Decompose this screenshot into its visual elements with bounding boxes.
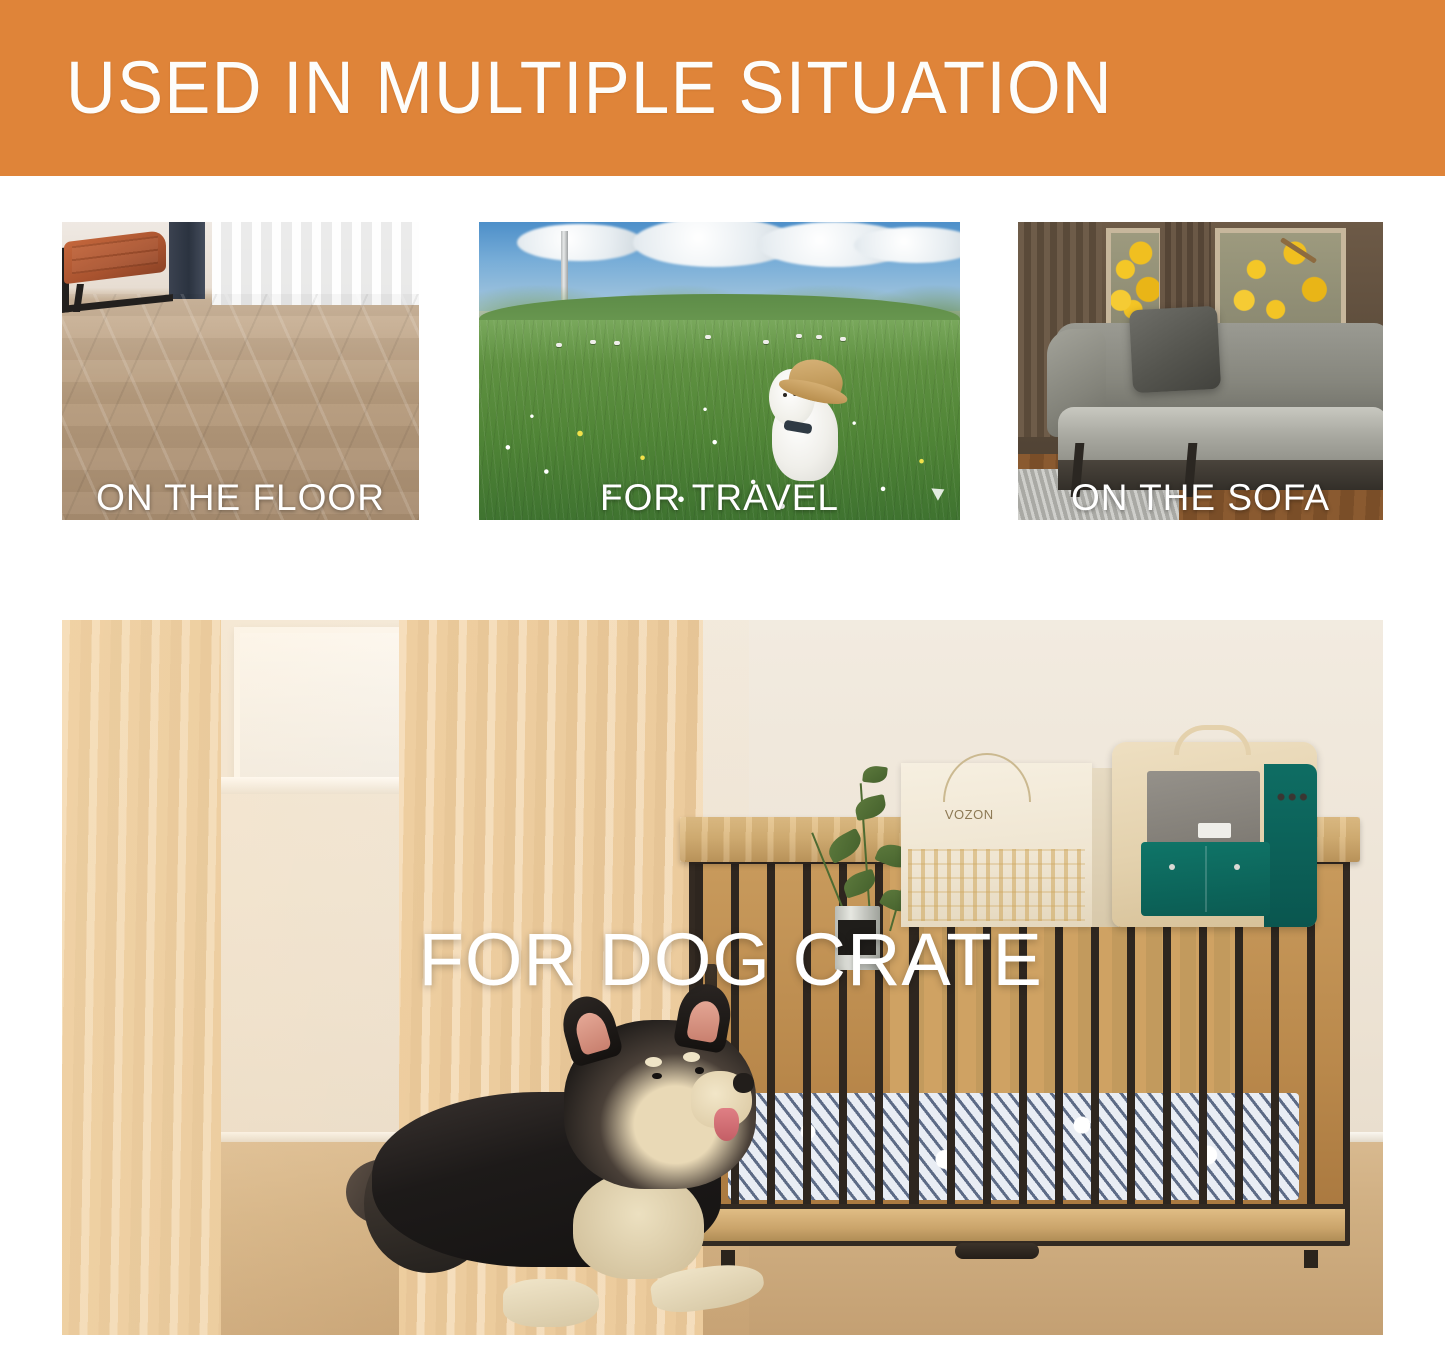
throw-pillow xyxy=(1129,306,1221,394)
dark-curtain xyxy=(169,222,205,299)
sofa-scene-image xyxy=(1018,222,1383,520)
travel-scene-image xyxy=(479,222,960,520)
crate-foot xyxy=(1304,1250,1318,1268)
dog-eyebrow-marking xyxy=(645,1057,662,1067)
pocket-snap xyxy=(1234,864,1240,870)
scenario-card-floor: ON THE FLOOR xyxy=(62,222,419,520)
hero-window xyxy=(234,627,406,784)
scenario-card-travel: FOR TRAVEL xyxy=(479,222,960,520)
white-dog-with-hat xyxy=(768,362,850,481)
product-feature-page: USED IN MULTIPLE SITUATION ON THE FLOOR xyxy=(0,0,1445,1359)
shopping-bag: VOZON xyxy=(901,763,1093,927)
header-banner: USED IN MULTIPLE SITUATION xyxy=(0,0,1445,176)
scenario-card-sofa: ON THE SOFA xyxy=(1018,222,1383,520)
plant-leaf xyxy=(862,765,887,785)
pet-carrier-backpack xyxy=(1112,742,1317,928)
scenario-caption-sofa: ON THE SOFA xyxy=(1018,477,1383,520)
dog-nose xyxy=(733,1073,754,1093)
scenario-caption-floor: ON THE FLOOR xyxy=(62,477,419,520)
leather-armchair xyxy=(62,231,173,308)
plant-leaf xyxy=(854,794,889,821)
dog-eye xyxy=(652,1073,662,1080)
pocket-divider xyxy=(1205,846,1207,911)
plant-leaf xyxy=(824,828,866,864)
hero-curtain-left xyxy=(62,620,221,1335)
tree-branch xyxy=(1280,237,1317,264)
carrier-front-pockets xyxy=(1141,842,1270,916)
bag-gold-pattern xyxy=(908,849,1084,921)
sheep xyxy=(763,340,769,344)
dog-eye xyxy=(695,1067,705,1074)
sheep xyxy=(816,335,822,339)
dog-ear-inner xyxy=(685,999,722,1043)
carrier-brand-label xyxy=(1198,823,1231,838)
sheep xyxy=(705,335,711,339)
carrier-vent-holes xyxy=(1274,786,1309,808)
sheep xyxy=(556,343,562,347)
crate-drawer-handle[interactable] xyxy=(955,1243,1039,1259)
sheep xyxy=(796,334,802,338)
hero-image-dog-crate: VOZON xyxy=(62,620,1383,1335)
window-right xyxy=(1215,228,1346,329)
dog-ear-inner xyxy=(572,1010,612,1056)
cloud xyxy=(517,224,642,262)
sheep xyxy=(840,337,846,341)
hero-caption: FOR DOG CRATE xyxy=(419,917,1043,1002)
page-title: USED IN MULTIPLE SITUATION xyxy=(66,51,1113,125)
dog-eye xyxy=(783,393,787,397)
sheep xyxy=(590,340,596,344)
dog-eyebrow-marking xyxy=(683,1052,700,1062)
hero-window-sill xyxy=(214,777,425,794)
dog-front-paw xyxy=(503,1279,599,1327)
dog-tongue xyxy=(714,1108,739,1142)
malamute-dog xyxy=(372,1020,808,1320)
scenario-caption-travel: FOR TRAVEL xyxy=(479,477,960,520)
plant-leaf xyxy=(841,868,879,898)
floor-scene-image xyxy=(62,222,419,520)
sheep xyxy=(614,341,620,345)
pocket-snap xyxy=(1169,864,1175,870)
bag-brand-logo: VOZON xyxy=(945,807,994,822)
